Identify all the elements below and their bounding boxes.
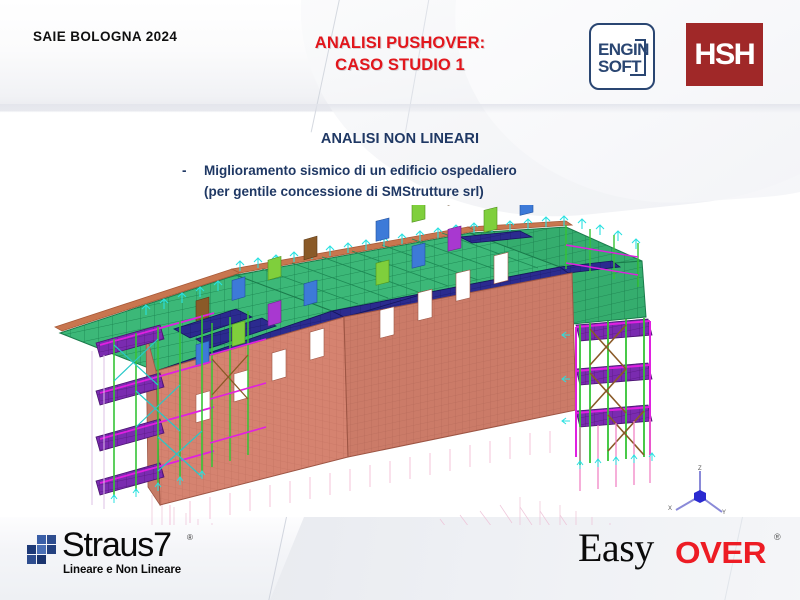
hsh-logo: HSH [686,23,763,86]
straus7-grid-icon [25,535,59,569]
bullet-dash-marker: - [182,161,204,182]
easyover-logo: Easy OVER ® [578,528,788,576]
hsh-logo-text: HSH [695,38,755,72]
straus7-wordmark: Straus7 [62,528,171,562]
straus7-tagline: Lineare e Non Lineare [63,564,181,576]
footer-diagonal-line-1 [268,517,287,600]
bullet-text: Miglioramento sismico di un edificio osp… [204,161,642,203]
section-heading: ANALISI NON LINEARI [0,131,800,147]
axis-label-z: Z [698,466,702,472]
event-label: SAIE BOLOGNA 2024 [33,29,177,44]
easyover-registered-mark: ® [774,532,781,542]
bullet-line-1: Miglioramento sismico di un edificio osp… [204,161,642,182]
enginsoft-bracket-lower [630,57,646,76]
axis-triad: Z X Y [668,466,732,522]
axis-label-x: X [668,506,672,512]
foundation-lines [152,495,628,525]
straus7-logo: Straus7 ® Lineare e Non Lineare [25,531,215,581]
enginsoft-logo-inner: ENGIN SOFT [598,31,646,81]
bullet-list: - Miglioramento sismico di un edificio o… [182,161,642,203]
easyover-over-text: OVER [675,537,766,568]
list-item: - Miglioramento sismico di un edificio o… [182,161,642,203]
slide-title-line-1: ANALISI PUSHOVER: [250,33,550,55]
header-band-edge [0,104,800,113]
presentation-slide: SAIE BOLOGNA 2024 ANALISI PUSHOVER: CASO… [0,0,800,600]
axis-label-y: Y [722,510,726,516]
bullet-line-2: (per gentile concessione di SMStrutture … [204,182,642,203]
slide-title: ANALISI PUSHOVER: CASO STUDIO 1 [250,33,550,77]
steel-frame-right [576,318,652,491]
enginsoft-logo: ENGIN SOFT [589,23,655,90]
easyover-easy-text: Easy [578,528,654,568]
slide-title-line-2: CASO STUDIO 1 [250,55,550,77]
straus7-registered-mark: ® [187,533,193,542]
